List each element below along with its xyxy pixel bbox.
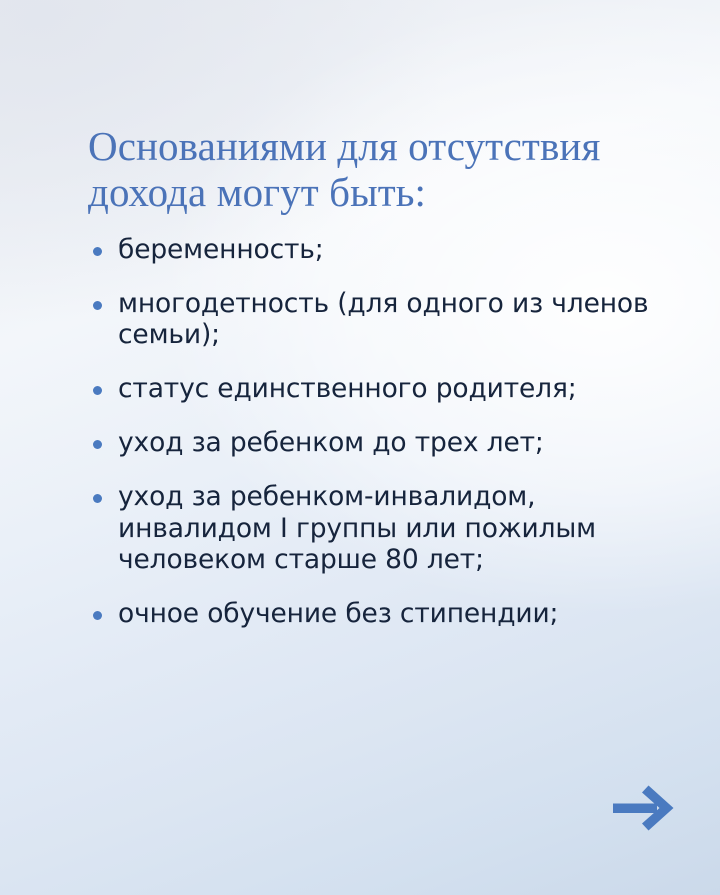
next-slide-button[interactable] bbox=[612, 782, 676, 834]
list-item-label: многодетность (для одного из членов семь… bbox=[118, 288, 676, 352]
list-item: беременность; bbox=[88, 234, 676, 266]
slide-content: Основаниями для отсутствия дохода могут … bbox=[88, 124, 676, 630]
page-title: Основаниями для отсутствия дохода могут … bbox=[88, 124, 676, 216]
list-item-label: статус единственного родителя; bbox=[118, 373, 676, 405]
bullet-dot-icon bbox=[93, 386, 102, 395]
bullet-dot-icon bbox=[93, 301, 102, 310]
list-item-label: беременность; bbox=[118, 234, 676, 266]
bullet-dot-icon bbox=[93, 611, 102, 620]
list-item: уход за ребенком до трех лет; bbox=[88, 427, 676, 459]
arrow-right-icon bbox=[612, 782, 676, 834]
list-item: очное обучение без стипендии; bbox=[88, 598, 676, 630]
list-item: уход за ребенком-инвалидом, инвалидом I … bbox=[88, 481, 676, 576]
list-item: многодетность (для одного из членов семь… bbox=[88, 288, 676, 352]
reasons-list: беременность; многодетность (для одного … bbox=[88, 234, 676, 630]
list-item-label: уход за ребенком до трех лет; bbox=[118, 427, 676, 459]
bullet-dot-icon bbox=[93, 494, 102, 503]
bullet-dot-icon bbox=[93, 440, 102, 449]
slide-canvas: Основаниями для отсутствия дохода могут … bbox=[0, 0, 720, 895]
bullet-dot-icon bbox=[93, 247, 102, 256]
list-item-label: очное обучение без стипендии; bbox=[118, 598, 676, 630]
list-item: статус единственного родителя; bbox=[88, 373, 676, 405]
list-item-label: уход за ребенком-инвалидом, инвалидом I … bbox=[118, 481, 676, 576]
